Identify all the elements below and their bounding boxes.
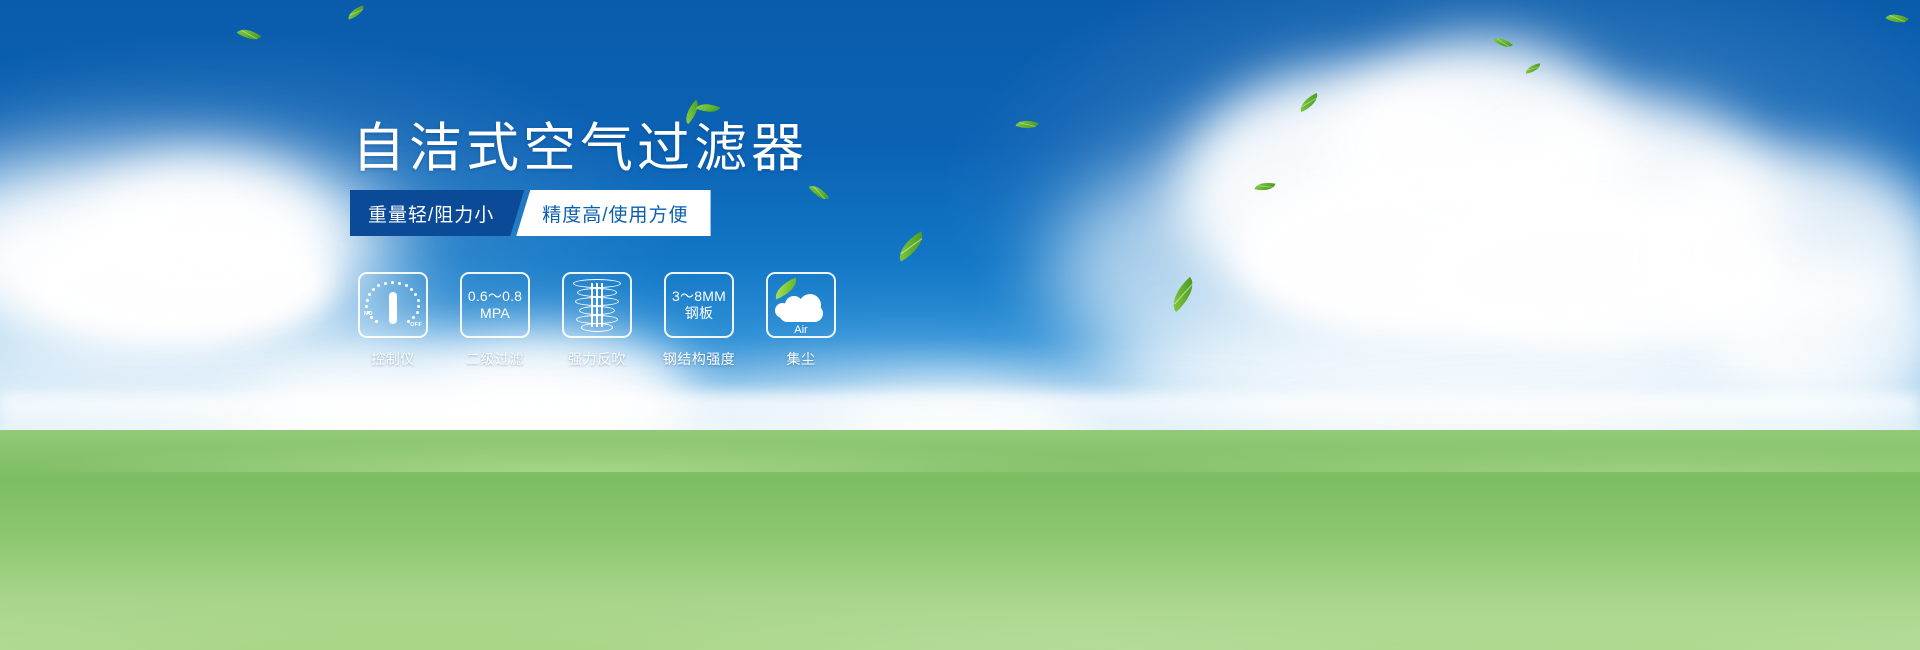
feature-caption-steel-structure: 钢结构强度 [663, 349, 736, 369]
cloud-air-label: Air [775, 324, 827, 336]
pressure-value: 0.6〜0.8 [468, 288, 522, 305]
feature-item-backblow[interactable]: 强力反吹 [560, 272, 634, 369]
feature-box-backblow[interactable] [562, 272, 632, 338]
feature-tab-bar[interactable]: 重量轻/阻力小 精度高/使用方便 [350, 190, 711, 236]
tab-lightweight-lowresistance[interactable]: 重量轻/阻力小 [350, 190, 524, 236]
feature-box-steel[interactable]: 3〜8MM 钢板 [664, 272, 734, 338]
gauge-icon: NO OFF [365, 280, 421, 330]
feature-box-pressure[interactable]: 0.6〜0.8 MPA [460, 272, 530, 338]
feature-item-controller[interactable]: NO OFF 控制仪 [356, 272, 430, 369]
pressure-unit: MPA [480, 305, 510, 322]
steel-thickness: 3〜8MM [672, 288, 726, 305]
gauge-label-off: OFF [410, 322, 422, 328]
steel-material: 钢板 [685, 305, 713, 322]
filter-coil-icon [574, 279, 620, 331]
tab-highprecision-easyuse[interactable]: 精度高/使用方便 [516, 190, 710, 236]
cloud-air-icon: Air [775, 288, 827, 322]
feature-item-secondary-filtration[interactable]: 0.6〜0.8 MPA 二级过滤 [458, 272, 532, 369]
feature-icon-row: NO OFF 控制仪 0.6〜0.8 MPA 二级过滤 [356, 272, 838, 369]
feature-caption-secondary-filtration: 二级过滤 [466, 349, 524, 369]
hero-banner: 自洁式空气过滤器 重量轻/阻力小 精度高/使用方便 [0, 0, 1920, 650]
feature-caption-controller: 控制仪 [371, 349, 415, 369]
feature-item-steel-structure[interactable]: 3〜8MM 钢板 钢结构强度 [662, 272, 736, 369]
feature-caption-dust-collection: 集尘 [787, 349, 816, 369]
feature-item-dust-collection[interactable]: Air 集尘 [764, 272, 838, 369]
feature-box-dust[interactable]: Air [766, 272, 836, 338]
title-leaf-icon [679, 92, 725, 126]
page-title: 自洁式空气过滤器 [352, 120, 808, 178]
gauge-label-no: NO [364, 311, 373, 317]
feature-caption-backblow: 强力反吹 [568, 349, 626, 369]
feature-box-controller[interactable]: NO OFF [358, 272, 428, 338]
